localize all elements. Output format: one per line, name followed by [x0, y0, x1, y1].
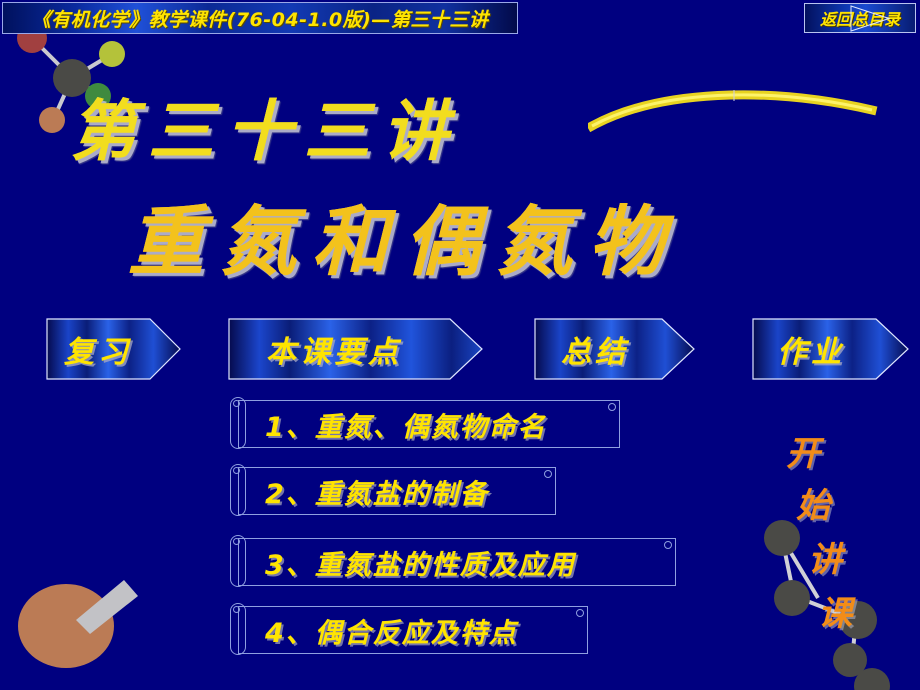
atom-sphere-bottomleft-icon: [6, 558, 151, 683]
nav-button-key-points-label: 本课要点: [228, 318, 440, 380]
outline-item[interactable]: 2、重氮盐的制备: [238, 467, 556, 515]
nav-button-summary[interactable]: 总结: [534, 318, 696, 380]
outline-item-label: 2、重氮盐的制备: [239, 472, 489, 511]
start-lecture-group[interactable]: 开 始 讲 课: [770, 420, 920, 670]
return-button-label: 返回总目录: [820, 6, 900, 30]
nav-button-key-points[interactable]: 本课要点: [228, 318, 484, 380]
list-corner-icon: [608, 403, 616, 411]
outline-item-label: 1、重氮、偶氮物命名: [239, 405, 547, 444]
start-lecture-char-2[interactable]: 始: [796, 478, 830, 527]
outline-item[interactable]: 3、重氮盐的性质及应用: [238, 538, 676, 586]
start-lecture-char-4[interactable]: 课: [818, 586, 852, 635]
return-to-menu-button[interactable]: 返回总目录: [804, 3, 916, 33]
nav-button-homework[interactable]: 作业: [752, 318, 910, 380]
header-title: 《有机化学》教学课件(76-04-1.0版)—第三十三讲: [32, 5, 489, 32]
outline-item[interactable]: 4、偶合反应及特点: [238, 606, 588, 654]
nav-button-review-label: 复习: [46, 318, 150, 380]
list-corner-icon: [544, 470, 552, 478]
outline-item[interactable]: 1、重氮、偶氮物命名: [238, 400, 620, 448]
outline-item-label: 4、偶合反应及特点: [239, 611, 518, 650]
page-title-line-2: 重氮和偶氮物: [128, 180, 680, 290]
slide-header-bar: 《有机化学》教学课件(76-04-1.0版)—第三十三讲: [2, 2, 518, 34]
page-title-line-1: 第三十三讲: [70, 78, 460, 174]
nav-button-review[interactable]: 复习: [46, 318, 182, 380]
nav-button-homework-label: 作业: [752, 318, 870, 380]
list-corner-icon: [576, 609, 584, 617]
outline-item-label: 3、重氮盐的性质及应用: [239, 543, 576, 582]
start-lecture-char-1[interactable]: 开: [786, 426, 820, 475]
nav-button-summary-label: 总结: [534, 318, 656, 380]
slide-canvas: 《有机化学》教学课件(76-04-1.0版)—第三十三讲 返回总目录 第三十三讲…: [0, 0, 920, 690]
start-lecture-char-3[interactable]: 讲: [808, 532, 842, 581]
list-corner-icon: [664, 541, 672, 549]
title-dash-decoration: [588, 84, 878, 146]
